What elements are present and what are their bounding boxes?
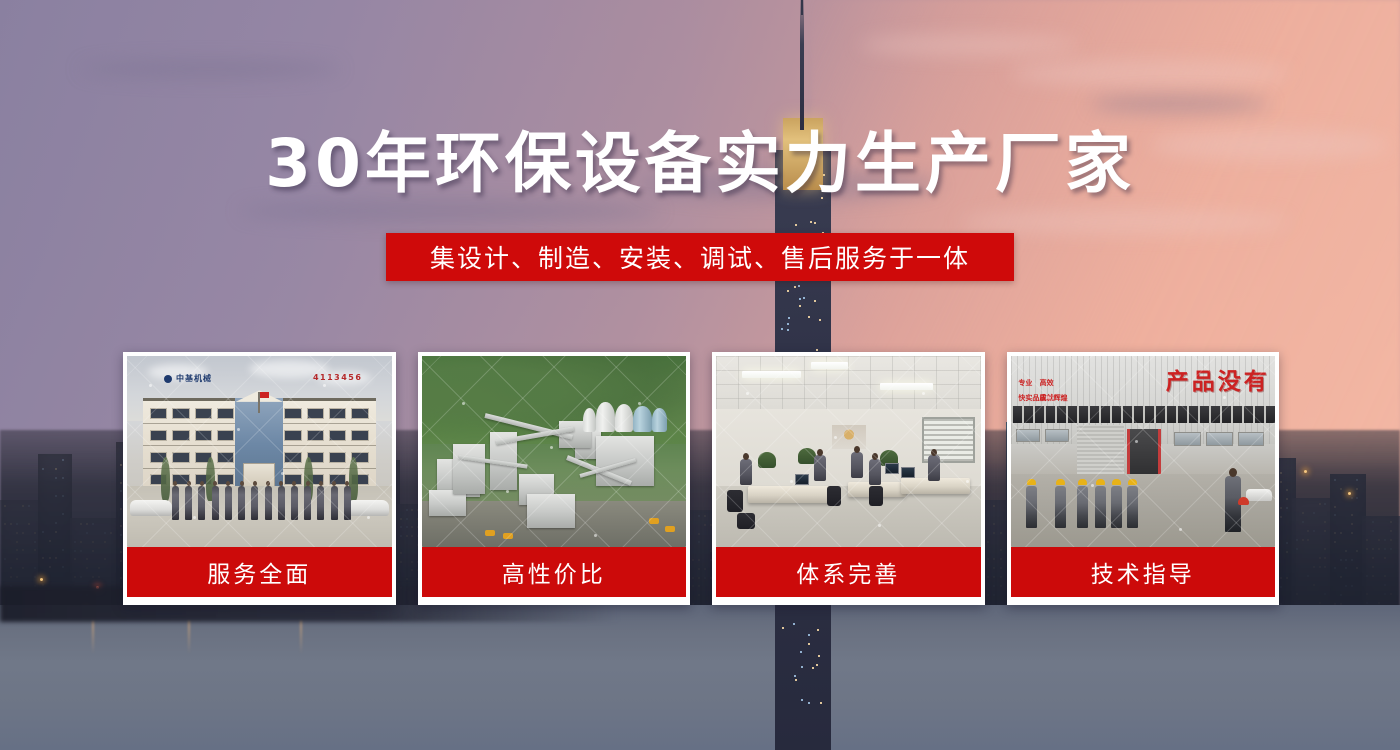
tower-spire (800, 0, 804, 130)
workshop-training-photo: 产品没有 专业 高效 快实品质 成就辉煌 (1011, 356, 1276, 547)
tower-window-light (794, 675, 796, 677)
tower-window-light (801, 699, 803, 701)
building-sign: 中基机械 (164, 373, 212, 384)
building-phone-number: 4113456 (313, 373, 362, 382)
tower-window-light (788, 317, 790, 319)
factory-wall-slogan: 成就辉煌 (1040, 394, 1068, 403)
tower-window-light (817, 629, 819, 631)
feature-card-caption: 技术指导 (1011, 547, 1276, 597)
feature-card[interactable]: 中基机械 4113456 服务全面 (123, 352, 396, 605)
tower-window-light (795, 679, 797, 681)
tower-window-light (795, 224, 797, 226)
factory-wall-headline: 产品没有 (1166, 362, 1270, 396)
tower-window-light (794, 286, 796, 288)
company-headquarters-photo: 中基机械 4113456 (127, 356, 392, 547)
feature-card-caption: 高性价比 (422, 547, 687, 597)
tower-window-light (803, 297, 805, 299)
feature-card[interactable]: 产品没有 专业 高效 快实品质 成就辉煌 (1007, 352, 1280, 605)
tower-window-light (814, 222, 816, 224)
feature-card[interactable]: 体系完善 (712, 352, 985, 605)
factory-wall-slogan: 专业 (1018, 379, 1032, 388)
tower-window-light (793, 623, 795, 625)
tower-window-light (801, 666, 803, 668)
company-logo-icon (164, 375, 172, 383)
production-plant-aerial-photo (422, 356, 687, 547)
tower-window-light (816, 664, 818, 666)
tower-window-light (808, 634, 810, 636)
tower-window-light (799, 305, 801, 307)
tower-window-light (812, 667, 814, 669)
tower-antenna-tip (801, 0, 803, 15)
tower-window-light (781, 328, 783, 330)
subtitle-text: 集设计、制造、安装、调试、售后服务于一体 (430, 239, 970, 275)
feature-card[interactable]: 高性价比 (418, 352, 691, 605)
tower-window-light (782, 627, 784, 629)
feature-card-caption: 体系完善 (716, 547, 981, 597)
tower-window-light (816, 349, 818, 351)
tower-window-light (787, 323, 789, 325)
subtitle-banner: 集设计、制造、安装、调试、售后服务于一体 (386, 233, 1014, 281)
river-foreground (0, 605, 1400, 750)
tower-window-light (800, 651, 802, 653)
tower-window-light (799, 298, 801, 300)
page-title: 30年环保设备实力生产厂家 (0, 128, 1400, 199)
tower-window-light (820, 702, 822, 704)
factory-wall-slogan: 高效 (1040, 379, 1054, 388)
tower-window-light (787, 290, 789, 292)
tower-window-light (818, 655, 820, 657)
tower-window-light (814, 300, 816, 302)
office-interior-photo (716, 356, 981, 547)
tower-window-light (787, 329, 789, 331)
feature-card-caption: 服务全面 (127, 547, 392, 597)
tower-window-light (798, 285, 800, 287)
tower-window-light (819, 319, 821, 321)
tower-window-light (808, 643, 810, 645)
tower-window-light (810, 221, 812, 223)
tower-window-light (808, 316, 810, 318)
feature-card-row: 中基机械 4113456 服务全面 (123, 352, 1279, 605)
hero-banner: 30年环保设备实力生产厂家 集设计、制造、安装、调试、售后服务于一体 (0, 0, 1400, 750)
tower-window-light (808, 702, 810, 704)
building-sign-text: 中基机械 (176, 373, 212, 384)
